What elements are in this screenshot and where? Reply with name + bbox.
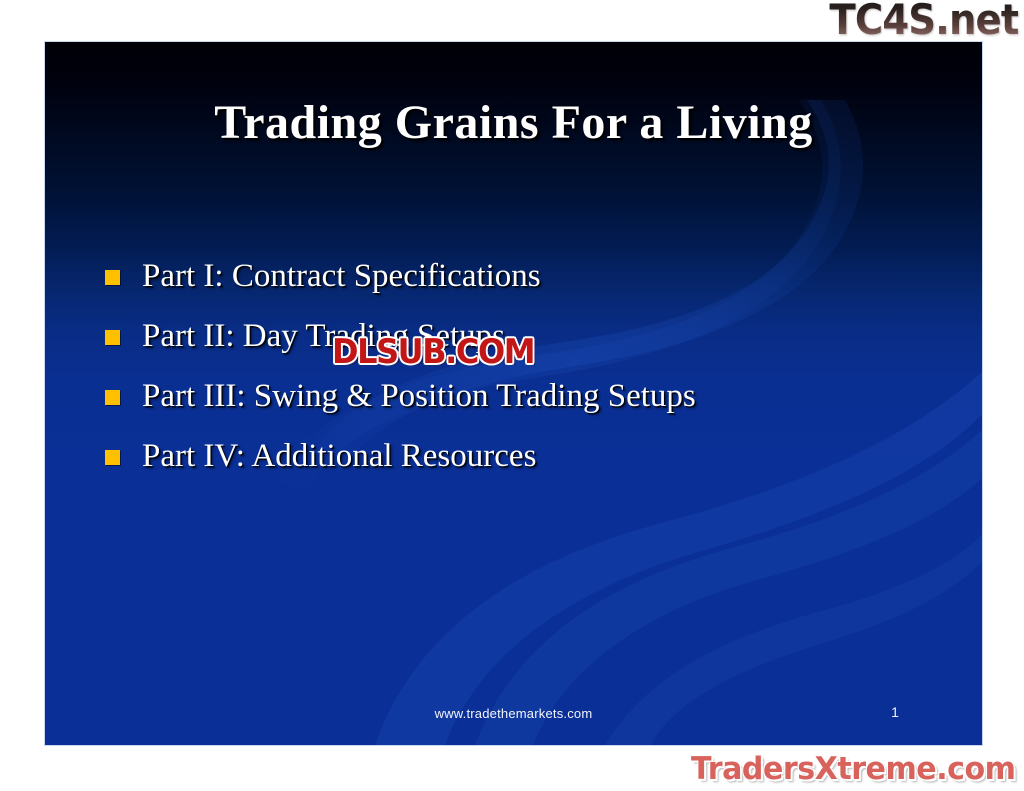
bullet-label: Part I: Contract Specifications bbox=[142, 254, 541, 298]
gold-square-bullet-icon bbox=[105, 450, 120, 465]
presentation-slide: Trading Grains For a Living Part I: Cont… bbox=[45, 42, 982, 745]
bullet-label: Part IV: Additional Resources bbox=[142, 434, 536, 478]
slide-page-number: 1 bbox=[865, 704, 925, 720]
slide-footer-url: www.tradethemarkets.com bbox=[45, 706, 982, 721]
bullet-label: Part III: Swing & Position Trading Setup… bbox=[142, 374, 696, 418]
watermark-bottom-tradersxtreme: TradersXtreme.com bbox=[692, 749, 1016, 789]
list-item: Part III: Swing & Position Trading Setup… bbox=[105, 374, 945, 434]
gold-square-bullet-icon bbox=[105, 330, 120, 345]
slide-bullet-list: Part I: Contract Specifications Part II:… bbox=[105, 254, 945, 494]
slide-title: Trading Grains For a Living bbox=[45, 97, 982, 150]
list-item: Part IV: Additional Resources bbox=[105, 434, 945, 494]
gold-square-bullet-icon bbox=[105, 390, 120, 405]
page-canvas: Trading Grains For a Living Part I: Cont… bbox=[0, 0, 1024, 791]
list-item: Part I: Contract Specifications bbox=[105, 254, 945, 314]
gold-square-bullet-icon bbox=[105, 270, 120, 285]
watermark-top-tc4s: TC4S.net bbox=[829, 0, 1018, 44]
watermark-center-dlsub: DLSUB.COM bbox=[332, 333, 534, 371]
